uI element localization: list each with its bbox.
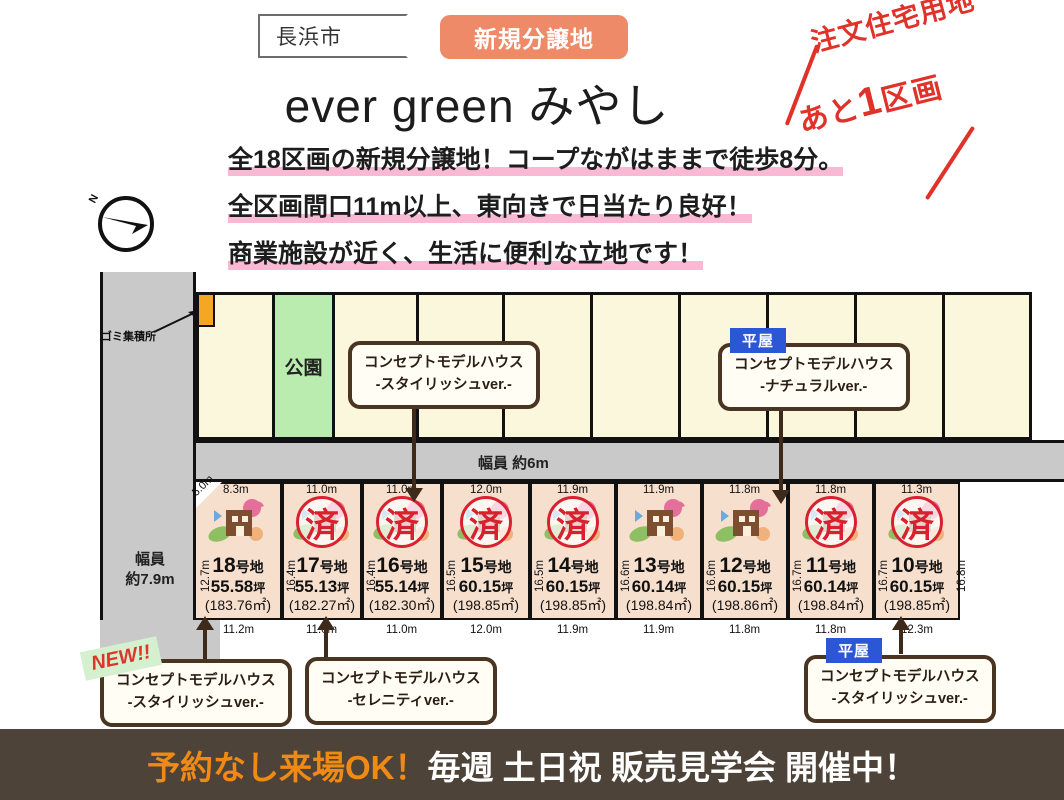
sold-stamp-icon: 済 [296,496,348,548]
lot-area-tsubo: 60.15坪 [718,576,773,597]
lot-number-value: 16 [376,554,399,577]
lot-number: 17号地 [296,555,347,576]
city-ribbon-tag: 長浜市 [258,14,408,58]
lot-bottom-dimension: 11.9m [557,624,588,636]
park-plot: 公園 [275,295,335,437]
footer-text-orange: 予約なし来場OK！ [147,741,428,789]
callout-line2: -スタイリッシュver.- [364,375,524,397]
lot-bottom-dimension: 11.0m [386,624,417,636]
lot-number: 15号地 [460,555,511,576]
road-left-width-line1: 幅員 [135,551,165,568]
lot-number-suffix: 号地 [320,559,348,575]
compass-north-label: N [87,193,101,206]
garbage-pointer-arrow [152,308,202,334]
lot-number-suffix: 号地 [828,559,856,575]
callout-arrow-line-stylish-bottom [203,628,207,660]
feature-bullet-2: 全区画間口11m以上、東向きで日当たり良好！ [228,187,752,223]
footer-text-white: 毎週 土日祝 販売見学会 開催中！ [427,741,917,789]
callout-model-house-stylish-bottom-right: コンセプトモデルハウス -スタイリッシュver.- [804,655,996,723]
callout-arrow-line-natural-top [779,404,783,496]
callout-arrow-head-stylish-top [405,488,423,502]
lot-side-dimension: 16.6m [620,560,632,592]
lot-area-tsubo: 60.15坪 [546,576,601,597]
lot-bottom-dimension: 11.9m [643,624,674,636]
lot-number-value: 17 [296,554,319,577]
lot-number-value: 15 [460,554,483,577]
sold-stamp-icon: 済 [460,496,512,548]
callout-line2: -セレニティver.- [321,691,481,713]
lot-area-tsubo: 60.14坪 [632,576,687,597]
flyer-page: 長浜市 新規分譲地 ever green みやし 注文住宅用地 あと1区画 全1… [0,0,1064,800]
lot-number: 18号地 [212,555,263,576]
lot-number-value: 14 [547,554,570,577]
callout-line2: -スタイリッシュver.- [116,693,276,715]
callout-arrow-head-stylish-bottom [196,616,214,630]
garbage-collection-label: ゴミ集積所 [101,328,156,344]
park-label: 公園 [284,353,322,380]
lot-number: 11号地 [806,555,856,576]
lot-plot[interactable]: 済16号地55.14坪(182.30㎡) [362,482,442,620]
sold-stamp-icon: 済 [805,496,857,548]
lot-number: 16号地 [376,555,427,576]
lot-area-tsubo: 60.15坪 [459,576,514,597]
lot-plot[interactable]: 済11号地60.14坪(198.84㎡) [788,482,874,620]
road-main-horizontal [196,440,1064,482]
lot-area-sqm: (183.76㎡) [205,597,271,614]
callout-model-house-stylish-top: コンセプトモデルハウス -スタイリッシュver.- [348,341,540,409]
lot-number-suffix: 号地 [571,559,599,575]
sold-stamp-icon: 済 [891,496,943,548]
feature-bullet-list: 全18区画の新規分譲地！コープながはままで徒歩8分。 全区画間口11m以上、東向… [228,140,843,281]
lot-number-value: 11 [806,554,828,577]
callout-line1: コンセプトモデルハウス [734,355,894,377]
sold-stamp-icon: 済 [547,496,599,548]
feature-bullet-1-text: 全18区画の新規分譲地！コープながはままで徒歩8分。 [228,146,843,174]
lot-number-suffix: 号地 [657,559,685,575]
lot-plot[interactable]: 済15号地60.15坪(198.85㎡) [442,482,530,620]
lot-number-value: 10 [891,554,914,577]
lot-area-sqm: (198.85㎡) [453,597,519,614]
feature-bullet-3-text: 商業施設が近く、生活に便利な立地です！ [228,240,703,268]
lot-area-sqm: (182.30㎡) [369,597,435,614]
new-subdivision-badge: 新規分譲地 [440,15,628,59]
feature-bullet-2-text: 全区画間口11m以上、東向きで日当たり良好！ [228,193,752,221]
lot-number-suffix: 号地 [915,559,943,575]
lot-side-dimension: 12.7m [200,560,212,592]
lot-number: 13号地 [633,555,684,576]
lot-side-dimension: 16.5m [534,560,546,592]
lot-side-dimension: 16.7m [792,560,804,592]
lot-side-dimension-right: 16.8m [956,560,968,592]
lot-area-tsubo: 55.14坪 [375,576,430,597]
lot-area-tsubo: 55.13坪 [295,576,350,597]
city-ribbon-label: 長浜市 [276,21,342,51]
road-main-width-label: 幅員 約6m [478,452,549,473]
lot-side-dimension: 16.4m [366,560,378,592]
lot-side-dimension: 16.7m [878,560,890,592]
lot-area-sqm: (198.85㎡) [884,597,950,614]
callout-arrow-line-stylish-bottom-right [899,628,903,654]
lot-number: 12号地 [719,555,770,576]
lot-plot[interactable]: 済10号地60.15坪(198.85㎡) [874,482,960,620]
lot-number-value: 13 [633,554,656,577]
top-plot-cell [945,295,1029,437]
callout-model-house-natural-top: コンセプトモデルハウス -ナチュラルver.- [718,343,910,411]
lot-number: 14号地 [547,555,598,576]
house-gift-icon [627,494,691,550]
lot-plot[interactable]: 済17号地55.13坪(182.27㎡) [282,482,362,620]
lot-plot[interactable]: 13号地60.14坪(198.84㎡) [616,482,702,620]
lot-bottom-dimension: 11.8m [815,624,846,636]
lot-number-suffix: 号地 [743,559,771,575]
new-subdivision-label: 新規分譲地 [474,20,594,54]
feature-bullet-1: 全18区画の新規分譲地！コープながはままで徒歩8分。 [228,140,843,176]
lot-area-sqm: (198.85㎡) [540,597,606,614]
subdivision-map: 公園 ゴミ集積所 幅員 約6m 幅員 約7.9m 18号地55.58坪(183.… [0,272,1064,672]
callout-line1: コンセプトモデルハウス [820,667,980,689]
lot-plot[interactable]: 済14号地60.15坪(198.85㎡) [530,482,616,620]
lot-number: 10号地 [891,555,942,576]
callout-arrow-head-serenity [317,616,335,630]
lot-plot[interactable]: 18号地55.58坪(183.76㎡) [196,482,282,620]
callout-line1: コンセプトモデルハウス [364,353,524,375]
lot-side-dimension: 16.4m [286,560,298,592]
road-left-width-line2: 約7.9m [125,571,174,588]
hiraya-badge-top: 平屋 [730,328,786,353]
compass-needle [102,214,148,234]
lot-number-suffix: 号地 [400,559,428,575]
lot-number-suffix: 号地 [236,559,264,575]
lot-number-value: 18 [212,554,235,577]
lot-number-suffix: 号地 [484,559,512,575]
callout-arrow-head-natural-top [772,490,790,504]
callout-line2: -スタイリッシュver.- [820,689,980,711]
callout-line1: コンセプトモデルハウス [116,671,276,693]
lot-row: 18号地55.58坪(183.76㎡)済17号地55.13坪(182.27㎡)済… [196,482,960,620]
lot-top-dimension: 8.3m [223,484,249,496]
lot-area-tsubo: 60.15坪 [890,576,945,597]
sold-stamp-icon: 済 [376,496,428,548]
house-gift-icon [206,494,270,550]
lot-side-dimension: 16.5m [446,560,458,592]
lot-area-tsubo: 60.14坪 [804,576,859,597]
callout-arrow-line-serenity [324,628,328,658]
lot-bottom-dimension: 11.8m [729,624,760,636]
road-left-width-label: 幅員 約7.9m [112,550,188,591]
callout-model-house-serenity: コンセプトモデルハウス -セレニティver.- [305,657,497,725]
callout-line2: -ナチュラルver.- [734,377,894,399]
lot-area-sqm: (198.84㎡) [626,597,692,614]
house-gift-icon [713,494,777,550]
lot-number-value: 12 [719,554,742,577]
compass-rose-icon: N [98,196,154,252]
lot-bottom-dimension: 12.0m [470,624,502,636]
feature-bullet-3: 商業施設が近く、生活に便利な立地です！ [228,234,703,270]
top-plot-cell [593,295,681,437]
callout-arrow-head-stylish-bottom-right [892,616,910,630]
decorative-slash-right [925,126,975,200]
lot-area-sqm: (198.84㎡) [798,597,864,614]
lot-area-sqm: (182.27㎡) [289,597,355,614]
hiraya-badge-bottom-right: 平屋 [826,638,882,663]
callout-arrow-line-stylish-top [412,398,416,494]
lot-area-sqm: (198.86㎡) [712,597,778,614]
lot-area-tsubo: 55.58坪 [211,576,266,597]
callout-line1: コンセプトモデルハウス [321,669,481,691]
footer-banner: 予約なし来場OK！ 毎週 土日祝 販売見学会 開催中！ [0,729,1064,800]
lot-side-dimension: 16.6m [706,560,718,592]
lot-bottom-dimension: 11.2m [223,624,254,636]
